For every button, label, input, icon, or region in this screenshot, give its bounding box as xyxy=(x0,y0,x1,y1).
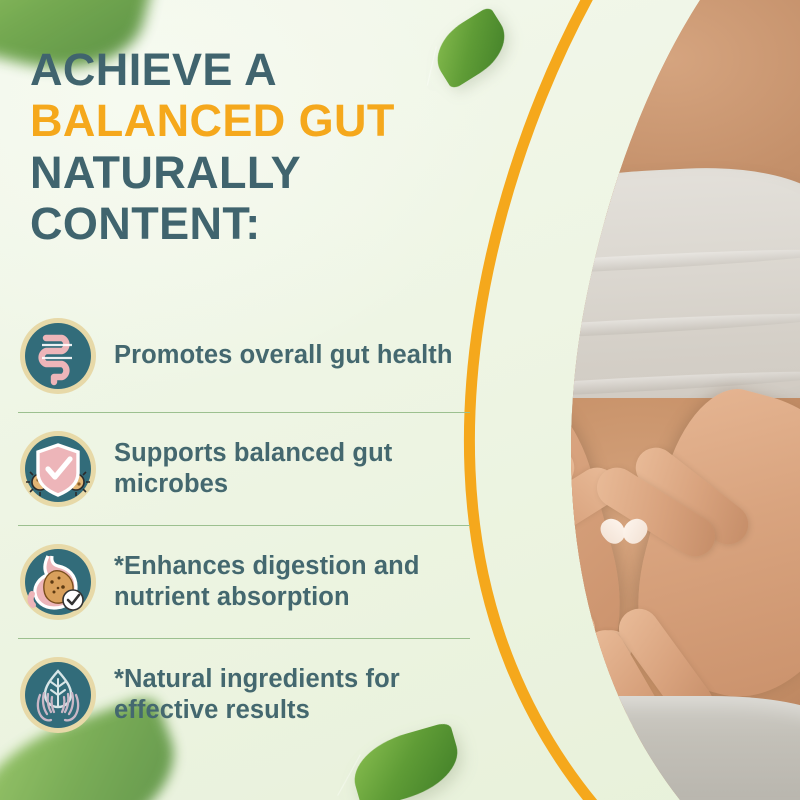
list-item: *Natural ingredients for effective resul… xyxy=(18,638,470,751)
trouser-waistband xyxy=(450,696,800,800)
benefits-list: Promotes overall gut health xyxy=(18,300,470,751)
list-item-label: Supports balanced gut microbes xyxy=(114,438,470,500)
list-item: *Enhances digestion and nutrient absorpt… xyxy=(18,525,470,638)
woman-midriff-hands-heart-photo xyxy=(450,0,800,800)
intestines-icon xyxy=(18,316,98,396)
fabric-fold xyxy=(450,309,800,345)
fabric-fold xyxy=(450,245,800,281)
headline-line-3: NATURALLY xyxy=(30,147,500,198)
finger xyxy=(493,601,603,731)
headline-line-4: CONTENT: xyxy=(30,198,500,249)
list-item-label: Promotes overall gut health xyxy=(114,340,453,371)
stomach-check-icon xyxy=(18,542,98,622)
page-title: ACHIEVE A BALANCED GUT NATURALLY CONTENT… xyxy=(30,44,500,249)
headline-line-1: ACHIEVE A xyxy=(30,44,500,95)
fingernail xyxy=(593,700,625,730)
hands-leaf-icon xyxy=(18,655,98,735)
list-item: Promotes overall gut health xyxy=(18,300,470,412)
infographic-canvas: ACHIEVE A BALANCED GUT NATURALLY CONTENT… xyxy=(0,0,800,800)
headline-line-2: BALANCED GUT xyxy=(30,95,500,146)
list-item-label: *Enhances digestion and nutrient absorpt… xyxy=(114,551,470,613)
photo-body xyxy=(450,0,800,800)
list-item-label: *Natural ingredients for effective resul… xyxy=(114,664,470,726)
list-item: Supports balanced gut microbes xyxy=(18,412,470,525)
shield-microbes-icon xyxy=(18,429,98,509)
finger xyxy=(454,440,583,553)
